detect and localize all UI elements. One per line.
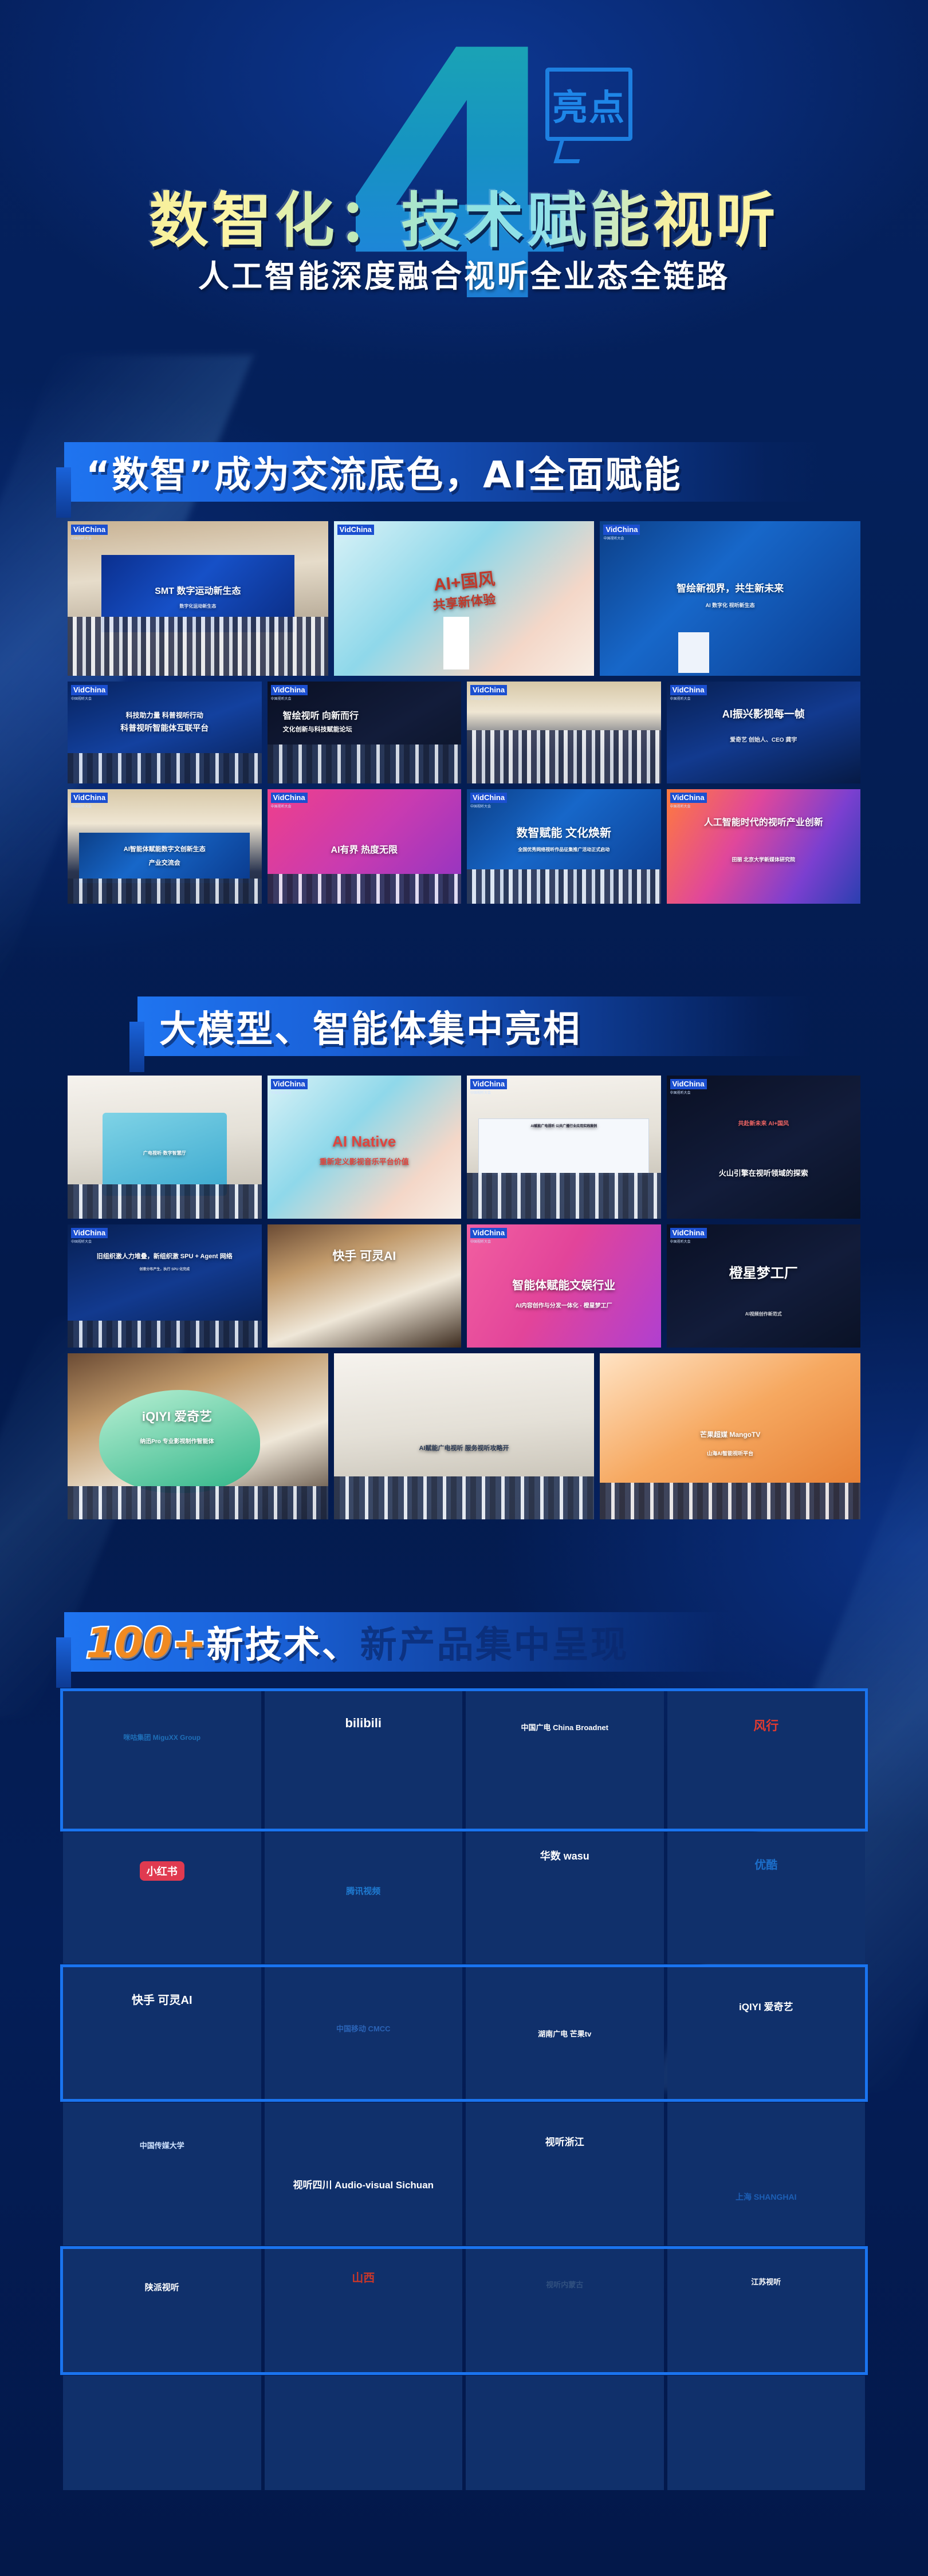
mosaic-cell[interactable]: 风行	[667, 1691, 866, 1829]
brand-label: 视听浙江	[545, 2134, 584, 2148]
photo-caption: 快手 可灵AI	[268, 1247, 462, 1264]
photo-card[interactable]: AI振兴影视每一帧 爱奇艺 创始人、CEO 龚宇 VidChina 中国视听大会	[667, 682, 861, 783]
photo-card[interactable]: AI有界 热度无限 VidChina 中国视听大会	[268, 789, 462, 904]
watermark-logo: VidChina	[670, 685, 707, 695]
photo-image: 快手 可灵AI	[268, 1224, 462, 1348]
photo-subcaption: 重新定义影视音乐平台价值	[268, 1156, 462, 1167]
audience-silhouette	[467, 869, 661, 904]
brand-label: 中国广电 China Broadnet	[521, 1722, 608, 1732]
brand-label: 腾讯视频	[346, 1885, 380, 1897]
section-1-row-2: 科技助力量 科普视听行动 科普视听智能体互联平台 VidChina 中国视听大会…	[0, 682, 928, 783]
photo-caption: 芒果超媒 MangoTV	[600, 1429, 860, 1439]
mosaic-cell[interactable]: 江苏视听	[667, 2249, 866, 2372]
mosaic-row	[63, 2376, 865, 2490]
watermark-logo: VidChina	[470, 685, 507, 695]
section-3-heading-text: 100+新技术、新产品集中呈现	[86, 1616, 629, 1668]
photo-card[interactable]: 广电视听·数字智慧厅	[68, 1076, 262, 1219]
mosaic-cell[interactable]	[466, 2376, 664, 2490]
watermark: VidChina 中国视听大会	[271, 793, 308, 809]
photo-subcaption: 文化创新与科技赋能论坛	[283, 724, 461, 734]
mosaic-cell[interactable]: 华数 wasu	[466, 1832, 664, 1964]
photo-card[interactable]: 芒果超媒 MangoTV 山海AI智能视听平台	[600, 1353, 860, 1519]
watermark-subtext: 中国视听大会	[470, 803, 507, 809]
watermark-subtext: 中国视听大会	[670, 1239, 707, 1244]
photo-caption: AI赋能广电视听 服务视听攻略开	[334, 1443, 595, 1452]
section-2-row-2: 旧组织激人力堆叠，新组织激 SPU + Agent 网络 创意分布产生，执行 S…	[0, 1224, 928, 1348]
watermark-subtext: 中国视听大会	[71, 1239, 108, 1244]
watermark-logo: VidChina	[470, 1079, 507, 1089]
photo-image: 智绘新视界，共生新未来 AI 数字化 视听新生态	[600, 521, 860, 676]
brand-label: 湖南广电 芒果tv	[538, 2028, 591, 2039]
photo-caption: 智绘视听 向新而行	[283, 708, 461, 722]
audience-silhouette	[68, 753, 262, 783]
speech-bubble-tail-icon	[553, 137, 586, 163]
watermark-subtext: 中国视听大会	[271, 1090, 308, 1095]
photo-card[interactable]: 智能体赋能文娱行业 AI内容创作与分发一体化 · 橙星梦工厂 VidChina …	[467, 1224, 661, 1348]
photo-caption: 数智赋能 文化焕新	[467, 824, 661, 840]
photo-caption: AI智能体赋能数字文创新生态	[68, 844, 262, 853]
mosaic-cell[interactable]	[63, 2376, 261, 2490]
mosaic-cell[interactable]: 陕派视听	[63, 2249, 261, 2372]
photo-caption: SMT 数字运动新生态	[68, 583, 328, 597]
photo-subcaption: 科技助力量 科普视听行动	[68, 710, 262, 720]
mosaic-cell[interactable]	[265, 2376, 463, 2490]
poster-root: 4 亮点 数智化：技术赋能视听 人工智能深度融合视听全业态全链路 “数智”成为交…	[0, 0, 928, 2562]
photo-card[interactable]: AI Native 重新定义影视音乐平台价值 VidChina 中国视听大会	[268, 1076, 462, 1219]
photo-subcaption: AI赋能广电视听 公共广播行业应用实践案例	[467, 1123, 661, 1128]
photo-image: 芒果超媒 MangoTV 山海AI智能视听平台	[600, 1353, 860, 1519]
photo-card[interactable]: AI赋能广电视听 服务视听攻略开	[334, 1353, 595, 1519]
watermark-logo: VidChina	[670, 793, 707, 803]
photo-card[interactable]: AI+国风 共享新体验 VidChina 中国视听大会	[334, 521, 595, 676]
mosaic-cell[interactable]: iQIYI 爱奇艺	[667, 1967, 866, 2099]
mosaic-cell[interactable]: 快手 可灵AI	[63, 1967, 261, 2099]
watermark-logo: VidChina	[337, 525, 374, 535]
audience-silhouette	[268, 874, 462, 904]
section-1-row-3: AI智能体赋能数字文创新生态 产业交流会 VidChina 中国视听大会 AI有…	[0, 789, 928, 904]
watermark-logo: VidChina	[271, 685, 308, 695]
photo-caption: AI振兴影视每一帧	[667, 706, 861, 721]
mosaic-cell[interactable]: 咪咕集团 MiguXX Group	[63, 1691, 261, 1829]
section-1-row-1: SMT 数字运动新生态 数字化运动新生态 VidChina 中国视听大会 AI+…	[0, 521, 928, 676]
brand-label: 陕派视听	[145, 2281, 179, 2293]
audience-silhouette	[600, 1483, 860, 1519]
footer-spacer	[0, 2494, 928, 2562]
photo-subcaption: 产业交流会	[68, 858, 262, 867]
brand-label: 江苏视听	[751, 2276, 781, 2287]
mosaic-cell[interactable]: 湖南广电 芒果tv	[466, 1967, 664, 2099]
section-2-heading: 大模型、智能体集中亮相	[0, 990, 928, 1065]
photo-subcaption: 全国优秀网络视听作品征集推广活动正式启动	[467, 846, 661, 853]
mosaic-cell[interactable]: 中国移动 CMCC	[265, 1967, 463, 2099]
brand-label: 快手 可灵AI	[132, 1991, 192, 2007]
podium	[443, 617, 469, 669]
photo-subcaption: 山海AI智能视听平台	[600, 1450, 860, 1457]
photo-caption: 人工智能时代的视听产业创新	[667, 814, 861, 828]
watermark-subtext: 中国视听大会	[71, 696, 108, 701]
watermark-logo: VidChina	[271, 793, 308, 803]
section-2-row-3: iQIYI 爱奇艺 纳迅Pro 专业影视制作智能体 AI赋能广电视听 服务视听攻…	[0, 1353, 928, 1519]
photo-caption: 旧组织激人力堆叠，新组织激 SPU + Agent 网络	[68, 1251, 262, 1261]
photo-subcaption: 纳迅Pro 专业影视制作智能体	[68, 1436, 328, 1445]
photo-caption: 智能体赋能文娱行业	[467, 1276, 661, 1293]
photo-subcaption: 共赴新未来 AI+国风	[667, 1118, 861, 1127]
brand-label: iQIYI 爱奇艺	[739, 1999, 793, 2013]
brand-label: bilibili	[345, 1716, 382, 1731]
watermark-subtext: 中国视听大会	[470, 1239, 507, 1244]
watermark-subtext: 中国视听大会	[670, 696, 707, 701]
watermark-subtext: 中国视听大会	[670, 803, 707, 809]
photo-card[interactable]: 快手 可灵AI	[268, 1224, 462, 1348]
mosaic-cell[interactable]: 小红书	[63, 1832, 261, 1964]
photo-image: AI Native 重新定义影视音乐平台价值	[268, 1076, 462, 1219]
photo-card[interactable]: AI赋能广电视听 公共广播行业应用实践案例 VidChina 中国视听大会	[467, 1076, 661, 1219]
photo-subcaption: AI内容创作与分发一体化 · 橙星梦工厂	[467, 1301, 661, 1309]
audience-silhouette	[68, 1184, 262, 1219]
watermark-logo: VidChina	[71, 685, 108, 695]
photo-card[interactable]: AI智能体赋能数字文创新生态 产业交流会 VidChina 中国视听大会	[68, 789, 262, 904]
photo-caption: 科普视听智能体互联平台	[68, 722, 262, 734]
watermark-logo: VidChina	[71, 525, 108, 535]
photo-caption: 橙星梦工厂	[667, 1262, 861, 1282]
photo-card[interactable]: VidChina 中国视听大会	[467, 682, 661, 783]
photo-image: 广电视听·数字智慧厅	[68, 1076, 262, 1219]
watermark: VidChina 中国视听大会	[470, 1079, 507, 1095]
photo-subcaption: 数字化运动新生态	[68, 603, 328, 609]
watermark-logo: VidChina	[670, 1079, 707, 1089]
watermark-subtext: 中国视听大会	[271, 803, 308, 809]
brand-label: 视听内蒙古	[546, 2279, 583, 2290]
mosaic-cell[interactable]: 中国广电 China Broadnet	[466, 1691, 664, 1829]
photo-card[interactable]: 科技助力量 科普视听行动 科普视听智能体互联平台 VidChina 中国视听大会	[68, 682, 262, 783]
mosaic-row: 小红书 腾讯视频 华数 wasu 优酷	[63, 1832, 865, 1964]
watermark: VidChina 中国视听大会	[337, 525, 374, 541]
watermark: VidChina 中国视听大会	[670, 685, 707, 701]
section-3-count: 100+	[86, 1619, 207, 1667]
watermark: VidChina 中国视听大会	[71, 525, 108, 541]
highlight-badge: 亮点	[545, 68, 632, 141]
watermark-subtext: 中国视听大会	[670, 1090, 707, 1095]
brand-label: 优酷	[754, 1856, 777, 1872]
watermark: VidChina 中国视听大会	[470, 1228, 507, 1244]
watermark-subtext: 中国视听大会	[337, 535, 374, 541]
watermark: VidChina 中国视听大会	[470, 793, 507, 809]
photo-image: iQIYI 爱奇艺 纳迅Pro 专业影视制作智能体	[68, 1353, 328, 1519]
brand-label: 中国移动 CMCC	[336, 2023, 391, 2034]
mosaic-row: 快手 可灵AI 中国移动 CMCC 湖南广电 芒果tv iQIYI 爱奇艺	[63, 1967, 865, 2099]
audience-silhouette	[268, 745, 462, 783]
photo-card[interactable]: 智绘新视界，共生新未来 AI 数字化 视听新生态 VidChina 中国视听大会	[600, 521, 860, 676]
watermark-logo: VidChina	[71, 1228, 108, 1238]
audience-silhouette	[334, 1476, 595, 1519]
photo-image: SMT 数字运动新生态 数字化运动新生态	[68, 521, 328, 676]
section-2-heading-text: 大模型、智能体集中亮相	[159, 1000, 581, 1053]
mosaic-cell[interactable]: 视听四川 Audio-visual Sichuan	[265, 2102, 463, 2246]
highlight-badge-label: 亮点	[549, 72, 628, 137]
section-1-heading: “数智”成为交流底色，AI全面赋能	[0, 435, 928, 511]
mosaic-cell[interactable]	[667, 2376, 866, 2490]
watermark-subtext: 中国视听大会	[603, 535, 640, 541]
brand-label: 山西	[352, 2268, 375, 2285]
brand-label: 咪咕集团 MiguXX Group	[123, 1732, 200, 1742]
watermark-subtext: 中国视听大会	[470, 1090, 507, 1095]
watermark: VidChina 中国视听大会	[603, 525, 640, 541]
section-1-heading-text: “数智”成为交流底色，AI全面赋能	[86, 446, 682, 498]
page-title: 数智化：技术赋能视听	[149, 172, 779, 258]
audience-silhouette	[68, 617, 328, 676]
watermark-logo: VidChina	[470, 1228, 507, 1238]
section-3-notch	[56, 1637, 71, 1688]
section-3-heading-bright: 新技术、	[207, 1624, 360, 1667]
photo-image: 火山引擎在视听领域的探索 共赴新未来 AI+国风	[667, 1076, 861, 1219]
mosaic-cell[interactable]: 腾讯视频	[265, 1832, 463, 1964]
brand-label: 小红书	[140, 1861, 184, 1881]
watermark-subtext: 中国视听大会	[71, 535, 108, 541]
photo-card[interactable]: SMT 数字运动新生态 数字化运动新生态 VidChina 中国视听大会	[68, 521, 328, 676]
brand-label: 风行	[753, 1716, 778, 1734]
photo-subcaption: 爱奇艺 创始人、CEO 龚宇	[667, 735, 861, 743]
photo-card[interactable]: 火山引擎在视听领域的探索 共赴新未来 AI+国风 VidChina 中国视听大会	[667, 1076, 861, 1219]
section-1-notch	[56, 467, 71, 518]
mosaic-cell[interactable]: 中国传媒大学	[63, 2102, 261, 2246]
photo-caption: AI Native	[268, 1133, 462, 1151]
mosaic-row: 中国传媒大学 视听四川 Audio-visual Sichuan 视听浙江 上海…	[63, 2102, 865, 2246]
watermark-subtext: 中国视听大会	[470, 696, 507, 701]
watermark-logo: VidChina	[603, 525, 640, 535]
watermark-subtext: 中国视听大会	[71, 803, 108, 809]
section-3-heading: 100+新技术、新产品集中呈现	[0, 1605, 928, 1681]
photo-image: AI赋能广电视听 服务视听攻略开	[334, 1353, 595, 1519]
audience-silhouette	[68, 1321, 262, 1348]
brand-label: 中国传媒大学	[140, 2140, 184, 2150]
photo-card[interactable]: 智绘视听 向新而行 文化创新与科技赋能论坛 VidChina 中国视听大会	[268, 682, 462, 783]
photo-caption: AI有界 热度无限	[268, 842, 462, 856]
photo-card[interactable]: 旧组织激人力堆叠，新组织激 SPU + Agent 网络 创意分布产生，执行 S…	[68, 1224, 262, 1348]
watermark: VidChina 中国视听大会	[670, 793, 707, 809]
watermark-logo: VidChina	[71, 793, 108, 803]
poster-header: 4 亮点 数智化：技术赋能视听 人工智能深度融合视听全业态全链路	[0, 0, 928, 435]
photo-image: AI+国风 共享新体验	[334, 521, 595, 676]
photo-subcaption: 广电视听·数字智慧厅	[68, 1150, 262, 1156]
photo-card[interactable]: 数智赋能 文化焕新 全国优秀网络视听作品征集推广活动正式启动 VidChina …	[467, 789, 661, 904]
brand-label: 上海 SHANGHAI	[736, 2191, 797, 2203]
photo-subcaption: 创意分布产生，执行 SPU 化完成	[68, 1266, 262, 1271]
mosaic-cell[interactable]: 优酷	[667, 1832, 866, 1964]
watermark: VidChina 中国视听大会	[71, 793, 108, 809]
audience-silhouette	[68, 1486, 328, 1519]
photo-caption: iQIYI 爱奇艺	[68, 1407, 328, 1425]
watermark: VidChina 中国视听大会	[71, 1228, 108, 1244]
podium	[678, 632, 710, 672]
photo-image: AI赋能广电视听 公共广播行业应用实践案例	[467, 1076, 661, 1219]
section-2-row-1: 广电视听·数字智慧厅 AI Native 重新定义影视音乐平台价值 VidChi…	[0, 1076, 928, 1219]
mosaic-row: 陕派视听 山西 视听内蒙古 江苏视听	[63, 2249, 865, 2372]
mosaic-cell[interactable]: bilibili	[265, 1691, 463, 1829]
watermark: VidChina 中国视听大会	[271, 1079, 308, 1095]
watermark: VidChina 中国视听大会	[670, 1079, 707, 1095]
mosaic-cell[interactable]: 视听内蒙古	[466, 2249, 664, 2372]
watermark-subtext: 中国视听大会	[271, 696, 308, 701]
watermark: VidChina 中国视听大会	[71, 685, 108, 701]
photo-subcaption: 田丽 北京大学新媒体研究院	[667, 856, 861, 863]
section-3-heading-faded: 新产品集中呈现	[360, 1624, 629, 1667]
watermark-logo: VidChina	[470, 793, 507, 803]
photo-card[interactable]: iQIYI 爱奇艺 纳迅Pro 专业影视制作智能体	[68, 1353, 328, 1519]
mosaic-cell[interactable]: 上海 SHANGHAI	[667, 2102, 866, 2246]
audience-silhouette	[68, 879, 262, 904]
watermark: VidChina 中国视听大会	[271, 685, 308, 701]
watermark: VidChina 中国视听大会	[470, 685, 507, 701]
section-2-notch	[129, 1022, 144, 1072]
photo-subcaption: AI视频创作新范式	[667, 1311, 861, 1317]
watermark-logo: VidChina	[670, 1228, 707, 1238]
audience-silhouette	[467, 1173, 661, 1219]
photo-card[interactable]: 橙星梦工厂 AI视频创作新范式 VidChina 中国视听大会	[667, 1224, 861, 1348]
mosaic-row: 咪咕集团 MiguXX Group bilibili 中国广电 China Br…	[63, 1691, 865, 1829]
section-3-mosaic: 咪咕集团 MiguXX Group bilibili 中国广电 China Br…	[0, 1691, 928, 2490]
watermark: VidChina 中国视听大会	[670, 1228, 707, 1244]
brand-label: 华数 wasu	[540, 1848, 589, 1863]
photo-caption: 智绘新视界，共生新未来	[600, 580, 860, 594]
audience-silhouette	[467, 730, 661, 783]
photo-card[interactable]: 人工智能时代的视听产业创新 田丽 北京大学新媒体研究院 VidChina 中国视…	[667, 789, 861, 904]
watermark-logo: VidChina	[271, 1079, 308, 1089]
photo-subcaption: AI 数字化 视听新生态	[600, 601, 860, 609]
mosaic-cell[interactable]: 视听浙江	[466, 2102, 664, 2246]
photo-caption: 火山引擎在视听领域的探索	[667, 1167, 861, 1178]
brand-label: 视听四川 Audio-visual Sichuan	[293, 2177, 434, 2191]
mosaic-cell[interactable]: 山西	[265, 2249, 463, 2372]
page-subtitle: 人工智能深度融合视听全业态全链路	[198, 251, 730, 296]
